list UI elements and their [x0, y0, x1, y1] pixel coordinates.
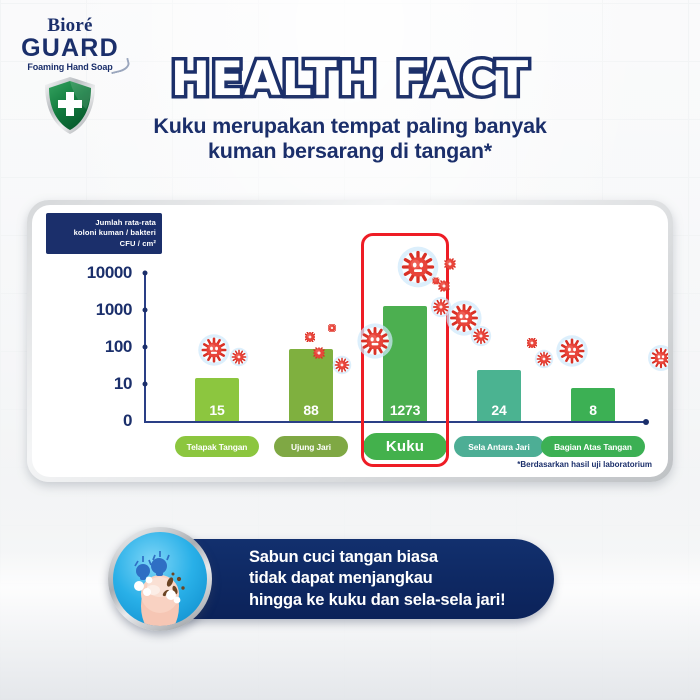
brand-tagline-text: Foaming Hand Soap — [27, 62, 112, 72]
y-axis-tick-label: 0 — [123, 411, 132, 431]
category-pill[interactable]: Telapak Tangan — [175, 436, 259, 457]
chart-panel: Jumlah rata-rata koloni kuman / bakteri … — [27, 200, 673, 482]
brand-product: GUARD — [14, 36, 126, 61]
x-axis-line — [144, 421, 646, 423]
chart-bar: 8 — [571, 388, 615, 421]
chart-bar: 88 — [289, 349, 333, 421]
germ-icon — [314, 346, 325, 357]
brand-name: Bioré — [14, 16, 126, 35]
category-pill[interactable]: Bagian Atas Tangan — [541, 436, 645, 457]
germ-icon — [349, 315, 401, 367]
category-pill[interactable]: Kuku — [363, 433, 447, 460]
y-axis-tick-dot — [143, 382, 148, 387]
germ-icon — [305, 329, 315, 339]
category-pill[interactable]: Sela Antara Jari — [454, 436, 544, 457]
bar-value-label: 15 — [209, 402, 224, 421]
germ-icon — [527, 335, 537, 345]
germ-icon — [642, 339, 668, 378]
bottom-banner-text: Sabun cuci tangan biasa tidak dapat menj… — [249, 547, 505, 611]
y-axis-tick-label: 10 — [114, 374, 132, 394]
bar-chart-plot: 10000100010010015Telapak Tangan88Ujung J… — [32, 205, 668, 477]
germ-icon — [439, 279, 450, 290]
germ-icon — [328, 319, 336, 327]
fingertip-germs-icon — [108, 527, 212, 631]
brand-logo: Bioré GUARD Foaming Hand Soap — [14, 16, 126, 136]
bottom-banner-line3: hingga ke kuku dan sela-sela jari! — [249, 590, 505, 611]
germ-icon — [225, 343, 253, 371]
chart-bar: 15 — [195, 378, 239, 422]
x-axis-end-dot — [643, 419, 649, 425]
y-axis-tick-dot — [143, 308, 148, 313]
bottom-banner-line1: Sabun cuci tangan biasa — [249, 547, 505, 568]
y-axis-tick-label: 100 — [105, 337, 132, 357]
germ-icon — [445, 257, 456, 268]
brand-tagline: Foaming Hand Soap — [14, 63, 126, 72]
page-subtitle-line2: kuman bersarang di tangan* — [0, 139, 700, 164]
y-axis-tick-dot — [143, 271, 148, 276]
shield-cross-icon — [42, 76, 98, 136]
y-axis-tick-label: 1000 — [96, 300, 132, 320]
germ-icon — [549, 328, 596, 375]
fingertip-germs-illustration — [113, 532, 207, 626]
y-axis-tick-dot — [143, 345, 148, 350]
germ-icon — [466, 321, 496, 351]
bottom-banner-line2: tidak dapat menjangkau — [249, 568, 505, 589]
bar-value-label: 88 — [303, 402, 318, 421]
y-axis-tick-label: 10000 — [87, 263, 132, 283]
bar-value-label: 1273 — [390, 402, 420, 421]
chart-footnote: *Berdasarkan hasil uji laboratorium — [517, 460, 652, 469]
chart-bar: 24 — [477, 370, 521, 421]
category-pill[interactable]: Ujung Jari — [274, 436, 348, 457]
bar-value-label: 8 — [589, 402, 597, 421]
bar-value-label: 24 — [491, 402, 506, 421]
chart-panel-inner: Jumlah rata-rata koloni kuman / bakteri … — [32, 205, 668, 477]
